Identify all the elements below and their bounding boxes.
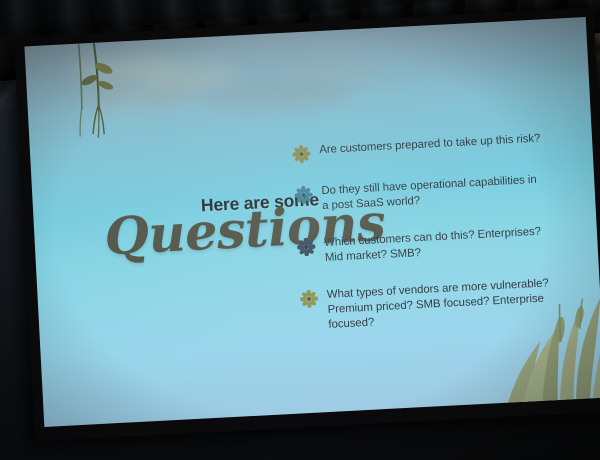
- question-item: Are customers prepared to take up this r…: [292, 130, 575, 164]
- presentation-slide: Here are some Questions: [24, 17, 600, 427]
- question-item: Do they still have operational capabilit…: [294, 171, 577, 216]
- flower-marker-gold-icon: [292, 145, 311, 164]
- cloud-shape: [278, 57, 389, 85]
- flower-marker-slate-icon: [297, 238, 316, 257]
- grass-cluster-icon: [465, 271, 600, 410]
- photo-scene: Here are some Questions: [0, 0, 600, 460]
- hanging-vine-icon: [62, 37, 132, 152]
- question-text: Do they still have operational capabilit…: [321, 173, 538, 214]
- flower-marker-teal-icon: [294, 186, 313, 205]
- question-text: Which customers can do this? Enterprises…: [324, 225, 542, 266]
- question-item: Which customers can do this? Enterprises…: [297, 223, 580, 268]
- projection-screen-frame: Here are some Questions: [14, 8, 600, 442]
- title-script-word: Questions: [103, 203, 325, 261]
- flower-marker-olive-icon: [300, 290, 319, 309]
- question-line: Are customers prepared to take up this r…: [319, 132, 541, 159]
- slide-title-block: Here are some Questions: [103, 191, 326, 261]
- question-text: Are customers prepared to take up this r…: [319, 132, 541, 159]
